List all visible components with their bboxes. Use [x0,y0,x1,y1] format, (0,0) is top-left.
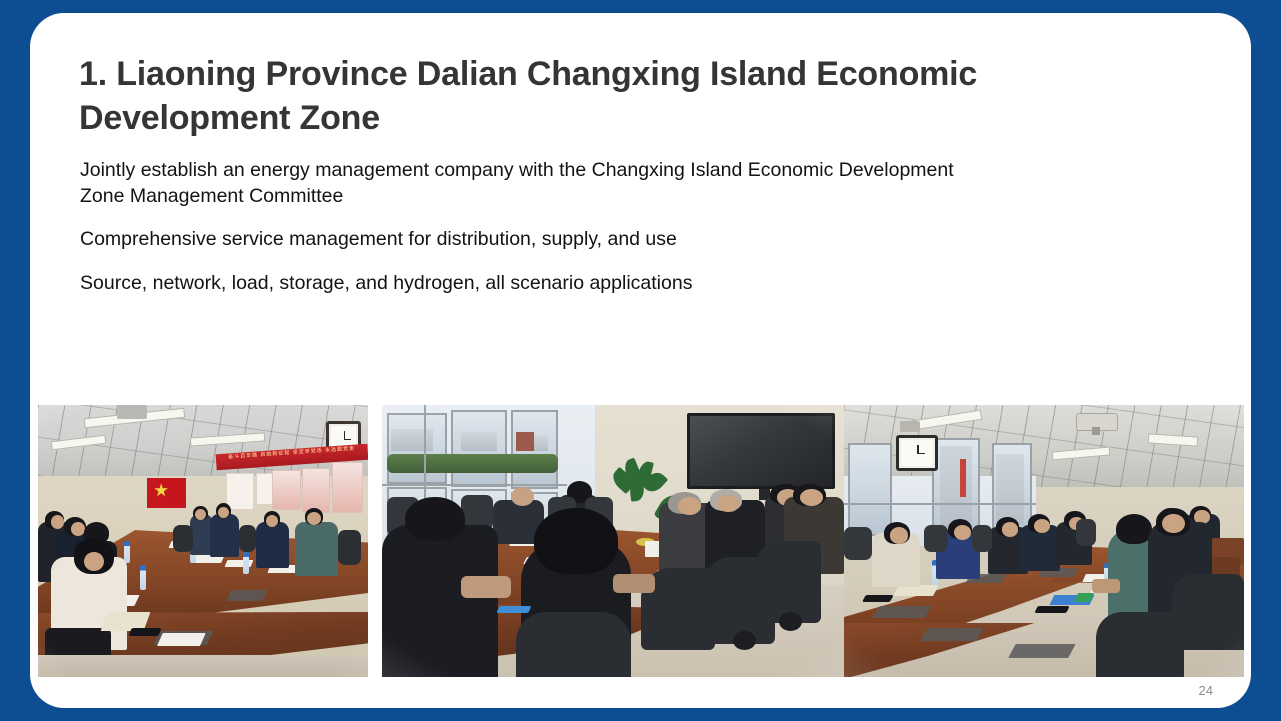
photo-meeting-room-with-party-banner: 奋斗百年路 启航新征程 坚定听党话 永远跟党走 [38,405,368,677]
photo-meeting-room-with-clock-and-windows [844,405,1244,677]
body-text-block: Jointly establish an energy management c… [80,161,1200,317]
body-line-1: Jointly establish an energy management c… [80,161,1200,181]
body-line-4: Source, network, load, storage, and hydr… [80,274,1200,294]
page-title: 1. Liaoning Province Dalian Changxing Is… [79,53,1139,140]
slide-card: 1. Liaoning Province Dalian Changxing Is… [30,13,1251,708]
body-line-3: Comprehensive service management for dis… [80,230,1200,250]
photo-strip: 奋斗百年路 启航新征程 坚定听党话 永远跟党走 [30,405,1251,695]
photo-meeting-room-with-wall-display [382,405,844,677]
slide-root: 1. Liaoning Province Dalian Changxing Is… [0,0,1281,721]
body-line-2: Zone Management Committee [80,187,1200,207]
page-number: 24 [1199,683,1213,698]
